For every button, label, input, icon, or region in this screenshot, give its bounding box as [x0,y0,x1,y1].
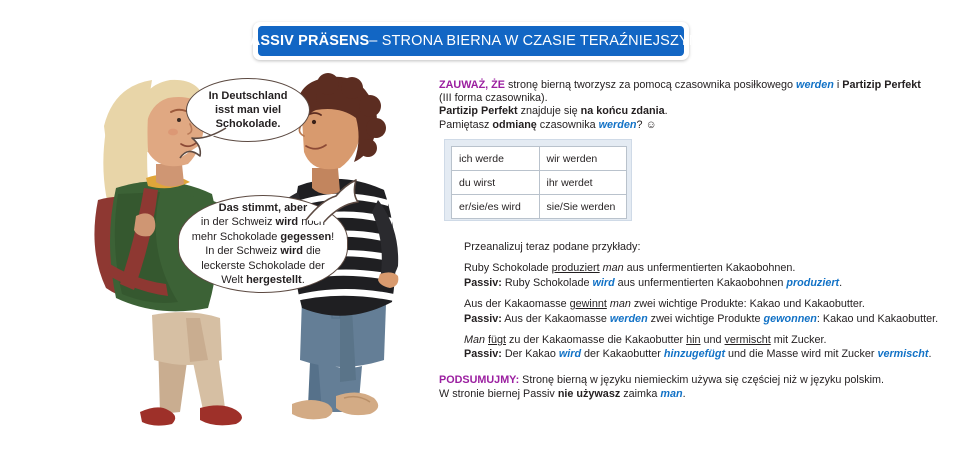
note-line4-b: odmianę [492,119,536,131]
page-title-banner: PASSIV PRÄSENS – STRONA BIERNA W CZASIE … [253,22,689,60]
conjugation-table-frame: ich werde wir werden du wirst ihr werdet… [444,139,632,221]
summary-line-2: W stronie biernej Passiv nie używasz zai… [439,387,949,401]
summary-label: PODSUMUJMY: [439,374,519,386]
note-line2: (III forma czasownika). [439,92,548,104]
example-2-passive: Passiv: Aus der Kakaomasse werden zwei w… [464,312,944,326]
bubble-1-line-1: In Deutschland [209,90,288,102]
example-2: Aus der Kakaomasse gewinnt man zwei wich… [464,297,944,326]
example-1: Ruby Schokolade produziert man aus unfer… [464,261,944,290]
summary-block: PODSUMUJMY: Stronę bierną w języku niemi… [439,373,949,402]
examples-block: Przeanalizuj teraz podane przykłady: Rub… [464,240,944,362]
table-cell: sie/Sie werden [539,195,627,219]
smiley-icon: ☺ [645,119,656,131]
table-cell: du wirst [452,171,540,195]
page-title-strong: PASSIV PRÄSENS [241,33,369,49]
table-cell: ich werde [452,147,540,171]
page-title-rest: – STRONA BIERNA W CZASIE TERAŹNIEJSZYM [369,33,701,49]
note-line4-verb: werden [599,119,637,131]
bubble-1-tail [176,124,236,166]
conjugation-table: ich werde wir werden du wirst ihr werdet… [451,146,627,219]
note-block: ZAUWAŻ, ŻE stronę bierną tworzysz za pom… [439,79,949,132]
example-3-passive: Passiv: Der Kakao wird der Kakaobutter h… [464,347,944,361]
table-cell: ihr werdet [539,171,627,195]
example-1-active: Ruby Schokolade produziert man aus unfer… [464,261,944,275]
note-line3-a: Partizip Perfekt [439,105,518,117]
note-line3-c: na końcu zdania [581,105,665,117]
table-row: er/sie/es wird sie/Sie werden [452,195,627,219]
table-cell: wir werden [539,147,627,171]
example-3-active: Man fügt zu der Kakaomasse die Kakaobutt… [464,333,944,347]
lesson-slide: In Deutschland isst man viel Schokolade.… [0,0,960,450]
example-1-passive: Passiv: Ruby Schokolade wird aus unferme… [464,276,944,290]
examples-intro: Przeanalizuj teraz podane przykłady: [464,240,944,254]
bubble-2-line-4: In der Schweiz wird die [192,244,334,259]
table-row: ich werde wir werden [452,147,627,171]
note-label: ZAUWAŻ, ŻE [439,79,505,91]
note-line1-b: i [834,79,842,91]
note-line3-b: znajduje się [518,105,581,117]
bubble-2-line-6: Welt hergestellt. [192,273,334,288]
table-cell: er/sie/es wird [452,195,540,219]
bubble-2-line-5: leckerste Schokolade der [192,259,334,274]
note-line1-a: stronę bierną tworzysz za pomocą czasown… [505,79,796,91]
bubble-2-tail [300,178,370,226]
summary-line-1: PODSUMUJMY: Stronę bierną w języku niemi… [439,373,949,387]
note-line4-c: czasownika [537,119,599,131]
note-line4-a: Pamiętasz [439,119,492,131]
page-title: PASSIV PRÄSENS – STRONA BIERNA W CZASIE … [258,26,684,56]
note-line1-c: Partizip Perfekt [842,79,921,91]
bubble-1-line-2: isst man viel [215,104,281,116]
example-3: Man fügt zu der Kakaomasse die Kakaobutt… [464,333,944,362]
table-row: du wirst ihr werdet [452,171,627,195]
note-line3-d: . [665,105,668,117]
example-2-active: Aus der Kakaomasse gewinnt man zwei wich… [464,297,944,311]
note-line1-verb: werden [796,79,834,91]
bubble-2-line-3: mehr Schokolade gegessen! [192,230,334,245]
